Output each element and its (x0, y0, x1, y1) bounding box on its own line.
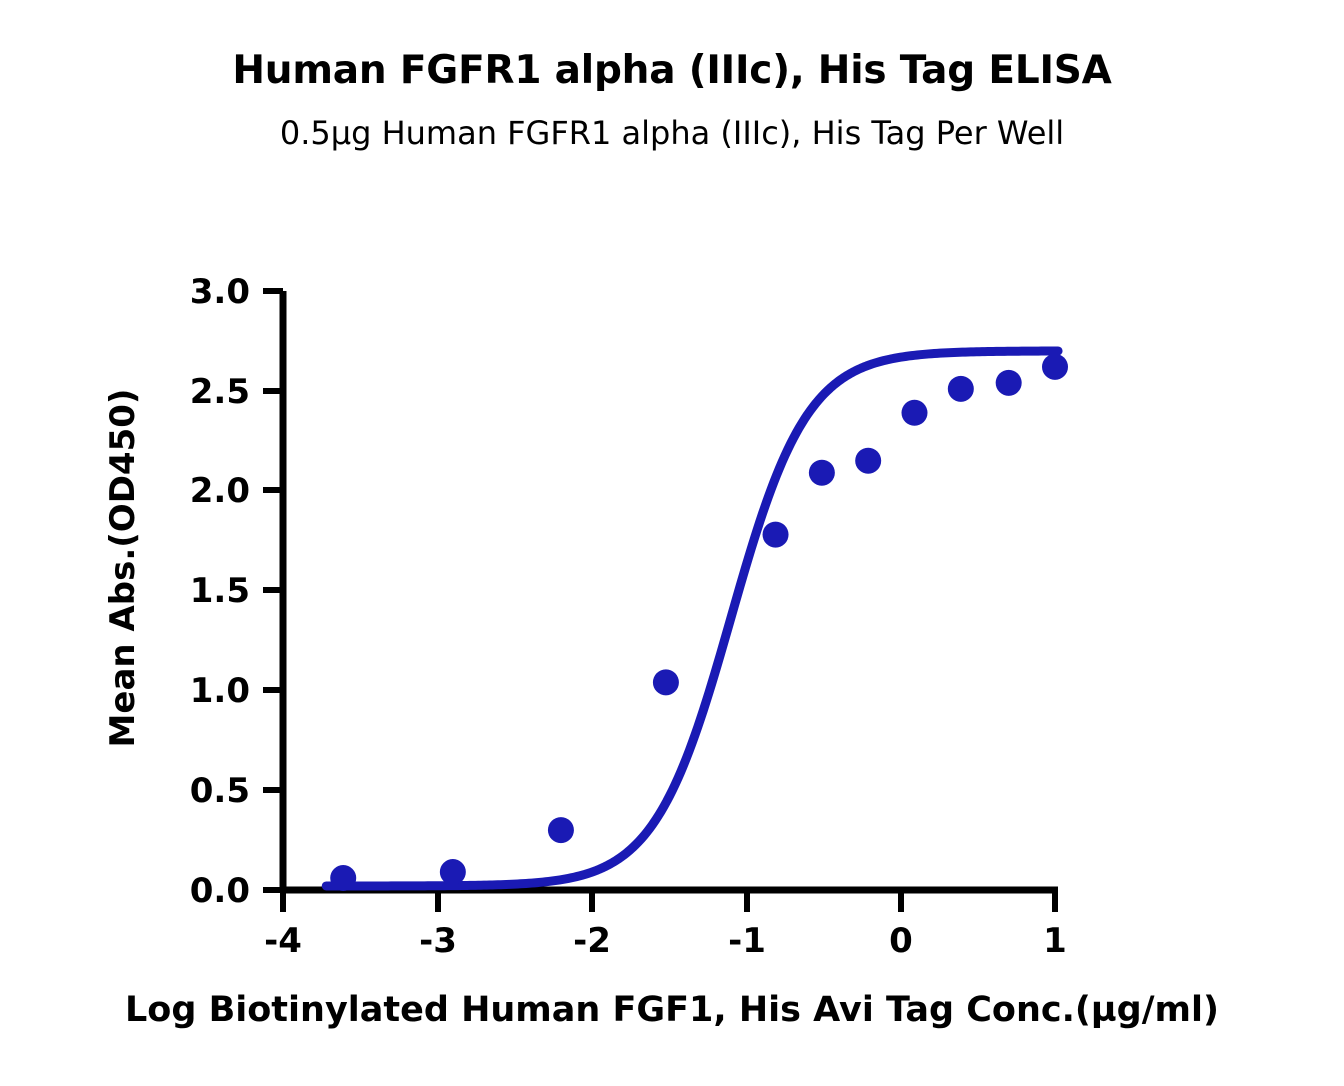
data-point (809, 460, 835, 486)
data-point (948, 376, 974, 402)
data-point-group (330, 354, 1068, 891)
y-tick-labels: 3.0 2.5 2.0 1.5 1.0 0.5 0.0 (190, 272, 250, 911)
x-tick-label: 1 (1043, 921, 1067, 961)
x-tick-label: -3 (419, 921, 457, 961)
data-point (763, 522, 789, 548)
y-tick-label: 2.0 (190, 471, 250, 511)
y-tick-label: 3.0 (190, 272, 250, 312)
data-point (653, 669, 679, 695)
data-point (996, 370, 1022, 396)
y-tick-label: 2.5 (190, 372, 250, 412)
y-tick-label: 0.0 (190, 871, 250, 911)
x-tick-labels: -4 -3 -2 -1 0 1 (264, 921, 1067, 961)
y-tick-label: 0.5 (190, 771, 250, 811)
y-axis-title: Mean Abs.(OD450) (103, 358, 143, 778)
data-point (902, 400, 928, 426)
plot-area: 3.0 2.5 2.0 1.5 1.0 0.5 0.0 -4 -3 -2 -1 … (0, 0, 1344, 1086)
data-point (1042, 354, 1068, 380)
fit-curve (326, 351, 1058, 886)
data-point (330, 865, 356, 891)
x-tick-label: -4 (264, 921, 302, 961)
data-point (440, 859, 466, 885)
data-point (855, 448, 881, 474)
x-tick-label: 0 (889, 921, 913, 961)
x-tick-label: -1 (728, 921, 766, 961)
y-tick-label: 1.5 (190, 571, 250, 611)
x-axis-title: Log Biotinylated Human FGF1, His Avi Tag… (0, 990, 1344, 1030)
x-tick-label: -2 (573, 921, 611, 961)
y-tick-label: 1.0 (190, 671, 250, 711)
chart-figure: Human FGFR1 alpha (IIIc), His Tag ELISA … (0, 0, 1344, 1086)
data-point (548, 817, 574, 843)
